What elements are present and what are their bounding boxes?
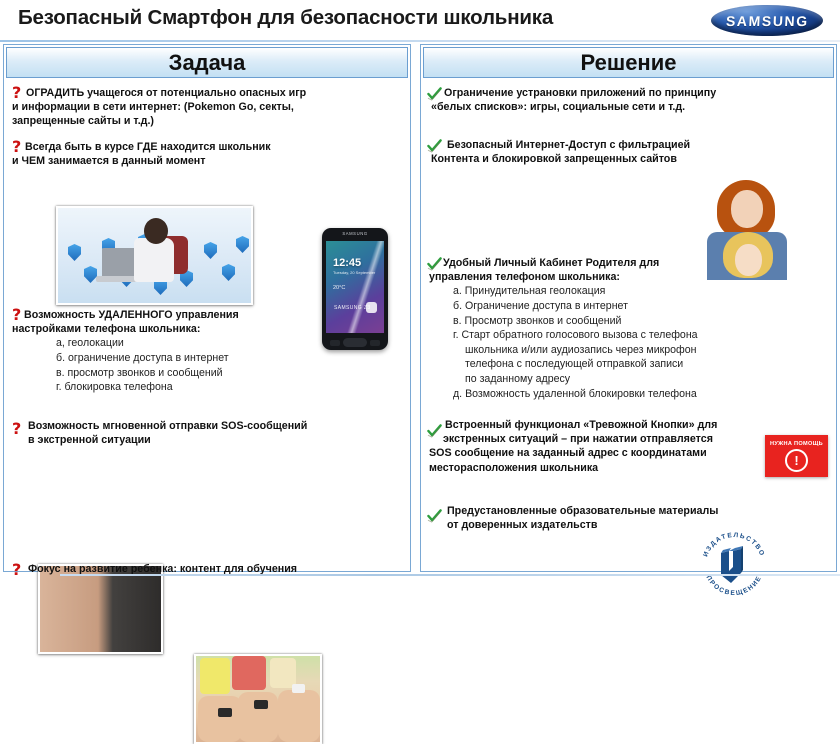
task-sublist: а, геолокации б. ограничение доступа в и…: [56, 336, 352, 394]
check-icon: [427, 139, 442, 153]
publisher-logo: ИЗДАТЕЛЬСТВО ПРОСВЕЩЕНИЕ: [697, 528, 771, 602]
solution-sublist-item: в. Просмотр звонков и сообщений: [453, 314, 827, 329]
solution-bullet-3-line-2: управления телефоном школьника:: [429, 270, 827, 284]
check-icon: [427, 87, 442, 101]
solution-bullet-4-line-3: SOS сообщение на заданный адрес с коорди…: [429, 446, 797, 460]
question-mark-icon: ?: [12, 307, 21, 323]
phone-weather: 20°C: [333, 285, 345, 291]
solution-sublist: а. Принудительная геолокация б. Ограниче…: [453, 284, 827, 401]
question-mark-icon: ?: [12, 139, 21, 155]
page-header: Безопасный Смартфон для безопасности шко…: [0, 0, 840, 42]
solution-bullet-3-line-1: Удобный Личный Кабинет Родителя для: [443, 256, 827, 270]
task-panel-title: Задача: [169, 50, 246, 76]
solution-bullet-5-line-1: Предустановленные образовательные матери…: [447, 504, 807, 518]
question-mark-icon: ?: [12, 85, 21, 101]
task-bullet-2: ? Всегда быть в курсе ГДЕ находится школ…: [12, 140, 362, 168]
phone-camera-shortcut-icon: [366, 302, 377, 313]
solution-sublist-item: б. Ограничение доступа в интернет: [453, 299, 827, 314]
phone-date: Tuesday, 20 September: [333, 270, 375, 275]
solution-bullet-1-line-2: «белых списков»: игры, социальные сети и…: [431, 100, 807, 114]
solution-panel-body: Ограничение устрановки приложений по при…: [421, 80, 836, 568]
phone-clock: 12:45: [333, 257, 361, 269]
solution-bullet-2: Безопасный Интернет-Доступ с фильтрацией…: [427, 138, 807, 166]
solution-panel: Решение Ограничение устрановки приложени…: [420, 44, 837, 572]
sos-panic-badge[interactable]: НУЖНА ПОМОЩЬ !: [765, 435, 828, 477]
solution-bullet-1-line-1: Ограничение устрановки приложений по при…: [444, 86, 807, 100]
solution-bullet-4-line-4: месторасположения школьника: [429, 461, 797, 475]
header-divider: [0, 40, 840, 42]
question-mark-icon: ?: [12, 562, 21, 578]
solution-bullet-2-line-1: Безопасный Интернет-Доступ с фильтрацией: [447, 138, 807, 152]
task-panel-header: Задача: [6, 47, 408, 78]
solution-bullet-4: Встроенный функционал «Тревожной Кнопки»…: [427, 418, 797, 475]
check-icon: [427, 509, 442, 523]
task-bullet-3-line-2: настройками телефона школьника:: [12, 322, 352, 336]
solution-sublist-item: д. Возможность удаленной блокировки теле…: [453, 387, 827, 402]
task-panel: Задача ? ОГРАДИТЬ учащегося от потенциал…: [3, 44, 411, 572]
task-bullet-4: ? Возможность мгновенной отправки SOS-со…: [12, 419, 372, 447]
task-bullet-1-line-3: запрещенные сайты и т.д.): [12, 114, 372, 128]
task-bullet-1-line-2: и информации в сети интернет: (Pokemon G…: [12, 100, 372, 114]
task-sublist-item: б. ограничение доступа в интернет: [56, 351, 352, 366]
solution-sublist-item: телефона с последующей отправкой записи: [465, 357, 827, 372]
solution-bullet-4-line-2: экстренных ситуаций – при нажатии отправ…: [443, 432, 797, 446]
question-mark-icon: ?: [12, 421, 21, 437]
sos-badge-label: НУЖНА ПОМОЩЬ: [770, 441, 823, 447]
task-bullet-1-line-1: ОГРАДИТЬ учащегося от потенциально опасн…: [26, 86, 372, 100]
solution-sublist-item: школьника и/или аудиозапись через микроф…: [465, 343, 827, 358]
task-bullet-4-line-2: в экстренной ситуации: [28, 433, 372, 447]
boy-with-shields-image: [56, 206, 253, 305]
exclamation-circle-icon: !: [785, 449, 808, 472]
check-icon: [427, 424, 442, 438]
samsung-logo: SAMSUNG: [711, 5, 823, 36]
worried-woman-image: [38, 564, 163, 654]
footer-divider: [60, 574, 840, 576]
solution-sublist-item: по заданному адресу: [465, 372, 827, 387]
page-title: Безопасный Смартфон для безопасности шко…: [18, 6, 553, 30]
task-bullet-1: ? ОГРАДИТЬ учащегося от потенциально опа…: [12, 86, 372, 129]
solution-sublist-item: г. Старт обратного голосового вызова с т…: [453, 328, 827, 343]
solution-bullet-4-line-1: Встроенный функционал «Тревожной Кнопки»…: [445, 418, 797, 432]
task-sublist-item: а, геолокации: [56, 336, 352, 351]
solution-bullet-1: Ограничение устрановки приложений по при…: [427, 86, 807, 114]
samsung-logo-text: SAMSUNG: [725, 13, 809, 29]
task-sublist-item: г. блокировка телефона: [56, 380, 352, 395]
solution-panel-header: Решение: [423, 47, 834, 78]
task-sublist-item: в. просмотр звонков и сообщений: [56, 366, 352, 381]
task-bullet-3-line-1: Возможность УДАЛЕННОГО управления: [24, 308, 352, 322]
solution-sublist-item: а. Принудительная геолокация: [453, 284, 827, 299]
solution-bullet-3: Удобный Личный Кабинет Родителя для упра…: [427, 256, 827, 401]
task-bullet-4-line-1: Возможность мгновенной отправки SOS-сооб…: [28, 419, 372, 433]
solution-panel-title: Решение: [581, 50, 677, 76]
task-bullet-2-line-1: Всегда быть в курсе ГДЕ находится школьн…: [25, 140, 362, 154]
task-bullet-3: ? Возможность УДАЛЕННОГО управления наст…: [12, 308, 352, 395]
task-bullet-2-line-2: и ЧЕМ занимается в данный момент: [12, 154, 362, 168]
solution-bullet-2-line-2: Контента и блокировкой запрещенных сайто…: [431, 152, 807, 166]
phone-brand-label: SAMSUNG: [322, 231, 388, 236]
check-icon: [427, 257, 442, 271]
task-panel-body: ? ОГРАДИТЬ учащегося от потенциально опа…: [4, 80, 410, 568]
teens-with-phones-image: [194, 654, 322, 744]
